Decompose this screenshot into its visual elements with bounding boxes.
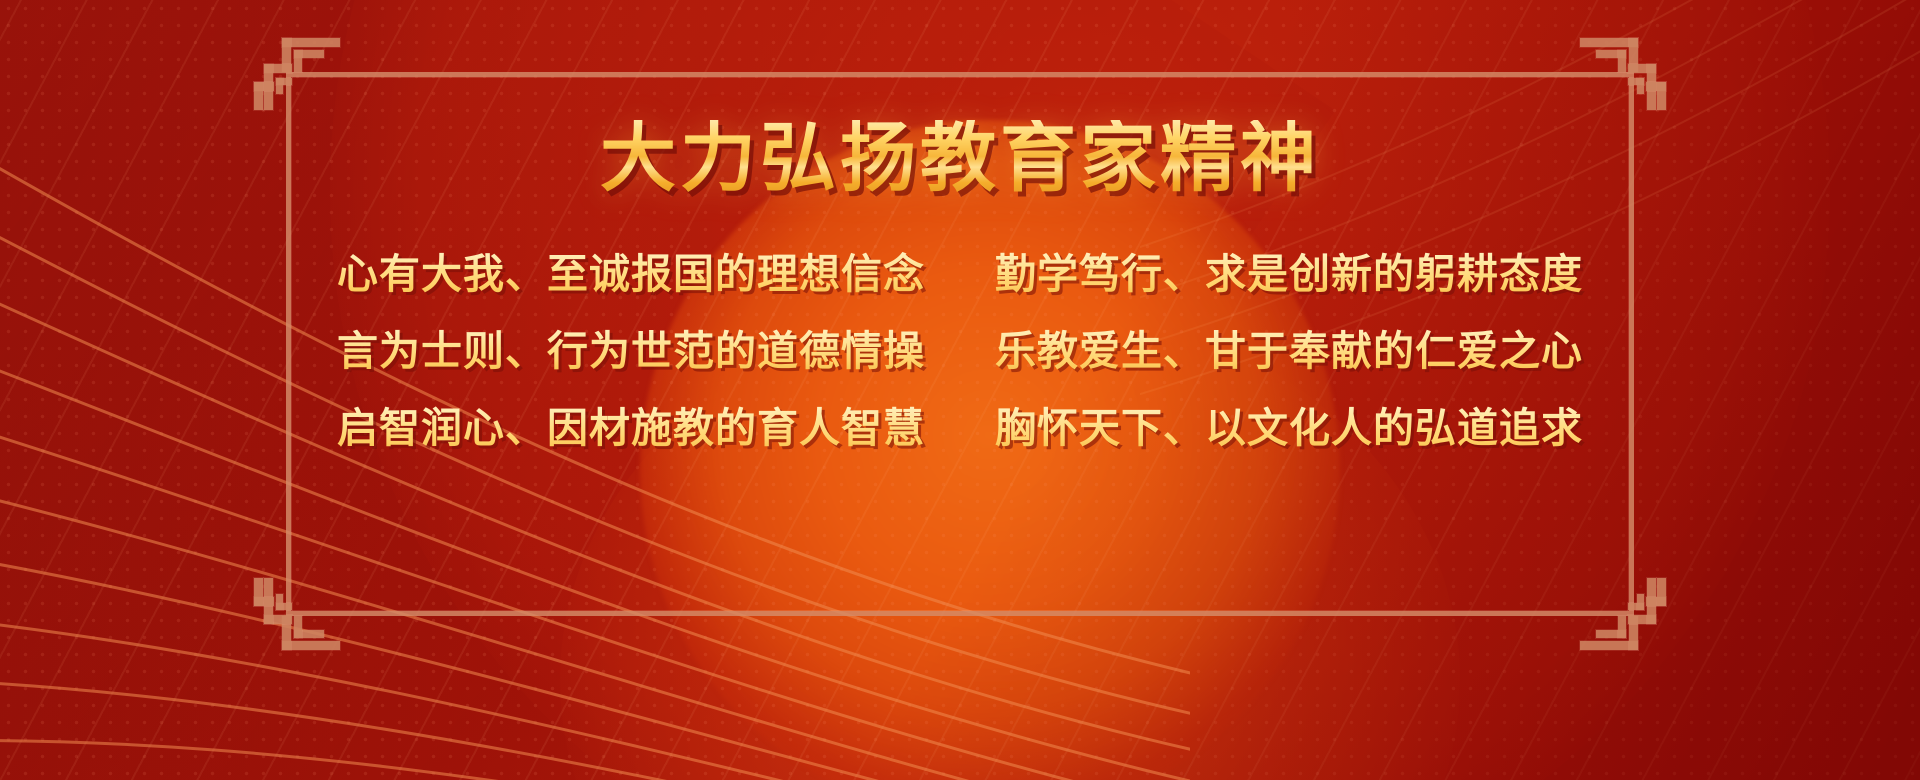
slogan-line-left-1: 心有大我、至诚报国的理想信念 xyxy=(337,250,925,299)
slogan-line-left-3: 启智润心、因材施教的育人智慧 xyxy=(337,404,925,453)
slogan-line-right-1: 勤学笃行、求是创新的躬耕态度 xyxy=(995,250,1583,299)
banner-root: 大力弘扬教育家精神 心有大我、至诚报国的理想信念 勤学笃行、求是创新的躬耕态度 … xyxy=(0,0,1920,780)
slogan-grid: 心有大我、至诚报国的理想信念 勤学笃行、求是创新的躬耕态度 言为士则、行为世范的… xyxy=(337,250,1583,454)
slogan-line-right-2: 乐教爱生、甘于奉献的仁爱之心 xyxy=(995,327,1583,376)
slogan-line-left-2: 言为士则、行为世范的道德情操 xyxy=(337,327,925,376)
banner-content: 大力弘扬教育家精神 心有大我、至诚报国的理想信念 勤学笃行、求是创新的躬耕态度 … xyxy=(286,72,1634,616)
slogan-line-right-3: 胸怀天下、以文化人的弘道追求 xyxy=(995,404,1583,453)
banner-title: 大力弘扬教育家精神 xyxy=(600,120,1320,196)
